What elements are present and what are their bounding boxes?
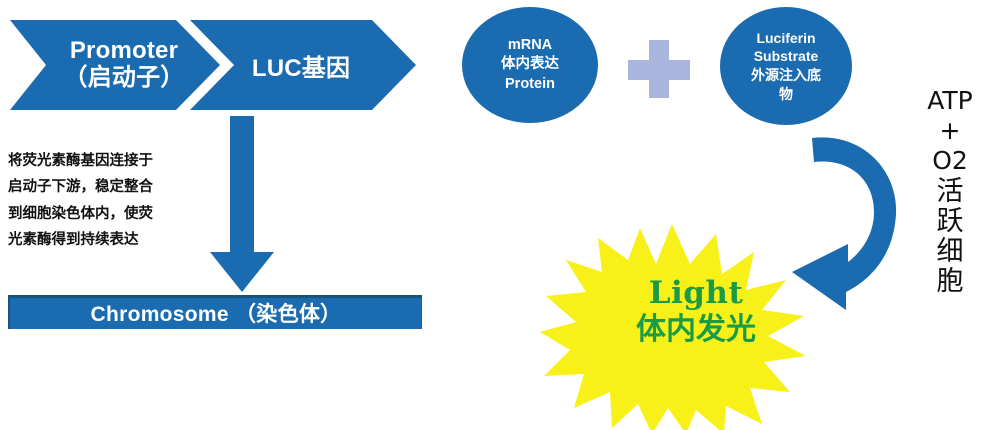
mrna-circle: mRNA 体内表达 Protein xyxy=(462,7,598,123)
down-arrow-icon xyxy=(196,116,288,294)
cofactor-o2: O2 xyxy=(912,148,988,173)
cofactor-plus: + xyxy=(912,118,988,143)
cofactor-char-huo: 活 xyxy=(912,178,988,205)
cofactor-stack: ATP + O2 活 跃 细 胞 xyxy=(912,88,988,298)
cofactor-char-bao: 胞 xyxy=(912,268,988,295)
plus-icon xyxy=(628,40,690,98)
light-output-label: Light 体内发光 xyxy=(596,276,796,346)
plus-icon-vertical-bar xyxy=(649,40,669,98)
chromosome-label: Chromosome （染色体） xyxy=(91,298,342,328)
luc-gene-label: LUC基因 xyxy=(226,56,376,83)
promoter-label: Promoter （启动子） xyxy=(46,38,202,92)
mrna-circle-label: mRNA 体内表达 Protein xyxy=(501,36,559,94)
cofactor-char-xi: 细 xyxy=(912,238,988,265)
light-label-zh: 体内发光 xyxy=(596,313,796,347)
construct-note: 将荧光素酶基因连接于 启动子下游，稳定整合 到细胞染色体内，使荧 光素酶得到持续… xyxy=(8,148,198,254)
cofactor-char-yue: 跃 xyxy=(912,208,988,235)
gene-construct-chevrons: Promoter （启动子） LUC基因 xyxy=(8,18,428,112)
light-label-en: Light xyxy=(596,276,796,311)
cofactor-atp: ATP xyxy=(912,88,988,113)
luciferase-reporter-diagram: Promoter （启动子） LUC基因 将荧光素酶基因连接于 启动子下游，稳定… xyxy=(0,0,1000,430)
luciferin-circle-label: Luciferin Substrate 外源注入底 物 xyxy=(751,29,821,104)
chromosome-bar: Chromosome （染色体） xyxy=(8,295,422,329)
luciferin-circle: Luciferin Substrate 外源注入底 物 xyxy=(720,7,852,125)
